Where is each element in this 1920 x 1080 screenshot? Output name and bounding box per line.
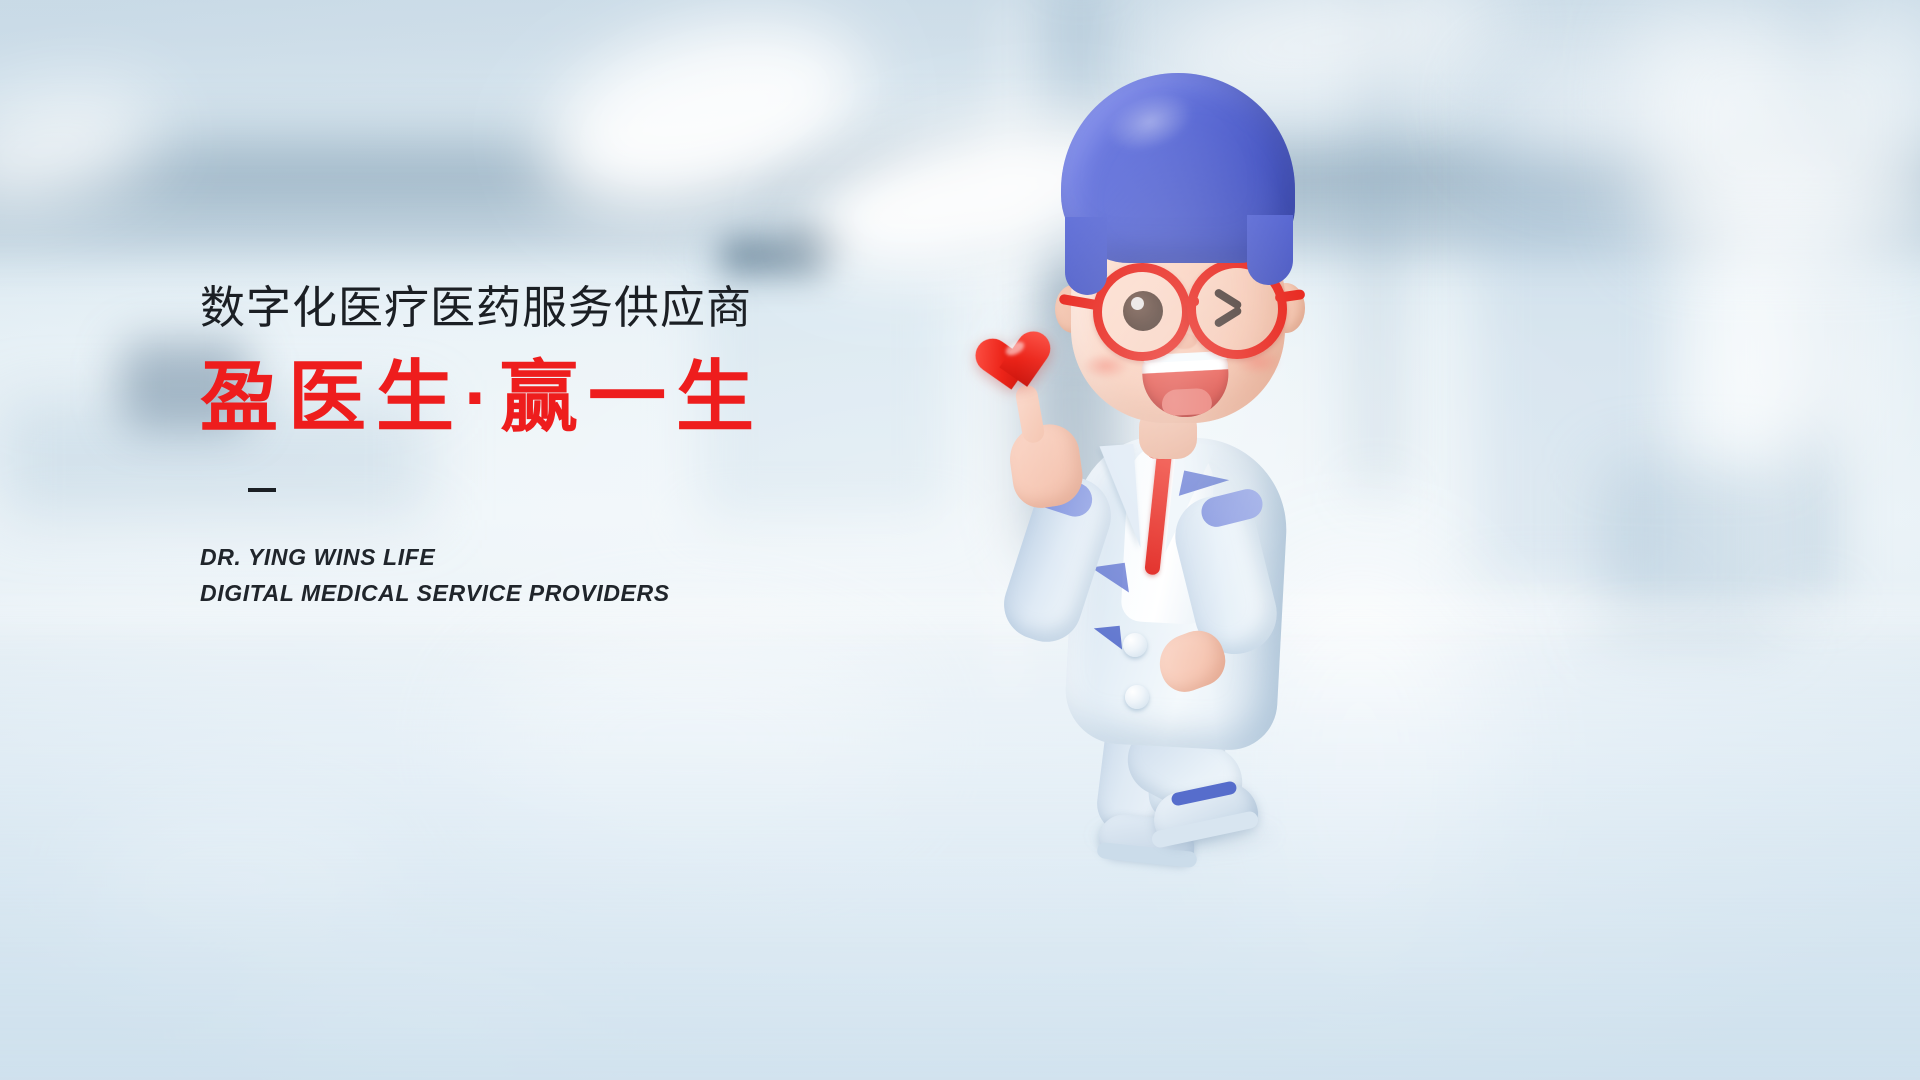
coat-button-top xyxy=(1123,633,1147,657)
coat-button-bottom xyxy=(1125,685,1149,709)
subtitle-line-1: DR. YING WINS LIFE xyxy=(200,540,920,576)
hair-sideburn-left xyxy=(1065,217,1107,295)
subtitle-line-2: DIGITAL MEDICAL SERVICE PROVIDERS xyxy=(200,576,920,612)
tongue xyxy=(1161,388,1212,417)
page-title: 盈医生·赢一生 xyxy=(200,358,920,436)
headline-chinese: 数字化医疗医药服务供应商 xyxy=(200,285,920,330)
subtitle-english-block: DR. YING WINS LIFE DIGITAL MEDICAL SERVI… xyxy=(200,540,920,611)
glasses-bridge xyxy=(1183,297,1199,306)
heart-icon xyxy=(986,328,1061,399)
divider-rule xyxy=(248,488,276,492)
doctor-mascot-illustration xyxy=(975,45,1355,855)
hero-banner: 数字化医疗医药服务供应商 盈医生·赢一生 DR. YING WINS LIFE … xyxy=(0,0,1920,1080)
hair-sideburn-right xyxy=(1247,215,1293,285)
glasses-lens-left xyxy=(1093,263,1191,361)
hero-copy-block: 数字化医疗医药服务供应商 盈医生·赢一生 DR. YING WINS LIFE … xyxy=(200,285,920,611)
